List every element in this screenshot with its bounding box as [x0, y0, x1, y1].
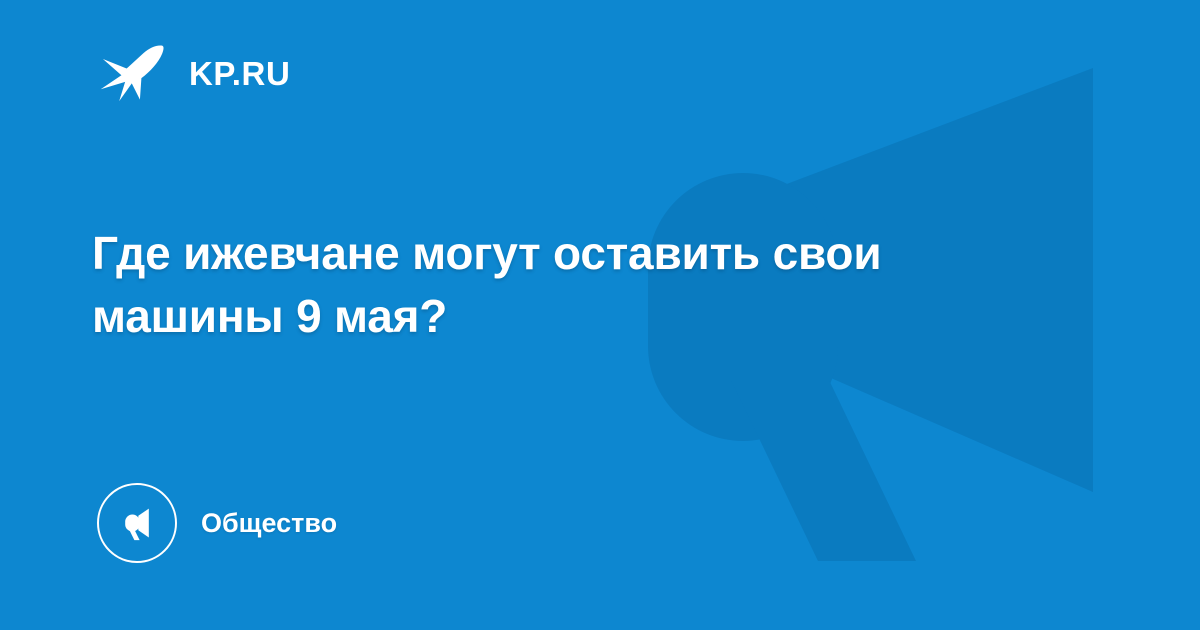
category-label: Общество — [201, 510, 337, 537]
category-badge[interactable]: Общество — [97, 483, 337, 563]
brand-name: KP.RU — [189, 57, 290, 90]
share-card: KP.RU Где ижевчане могут оставить свои м… — [0, 0, 1200, 630]
swallow-bird-icon — [97, 36, 171, 110]
category-icon-circle — [97, 483, 177, 563]
brand-header[interactable]: KP.RU — [97, 36, 290, 110]
page-title: Где ижевчане могут оставить свои машины … — [92, 222, 992, 349]
